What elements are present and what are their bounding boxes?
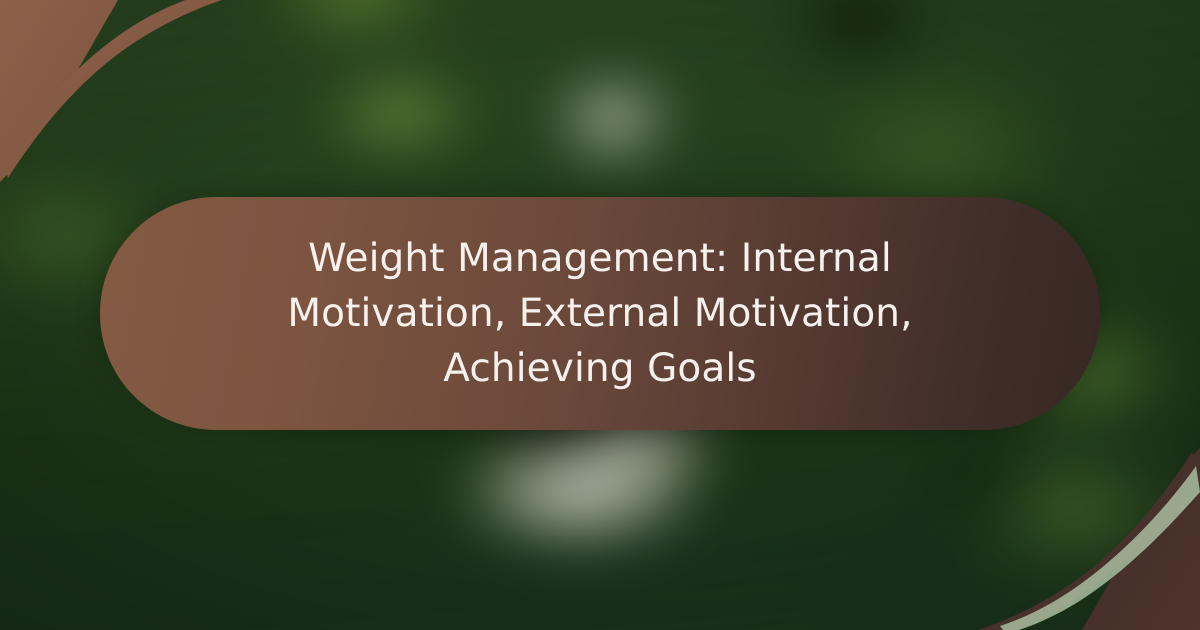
title-card: Weight Management: Internal Motivation, …: [100, 197, 1100, 430]
page-title: Weight Management: Internal Motivation, …: [220, 231, 980, 396]
share-card-canvas: Weight Management: Internal Motivation, …: [0, 0, 1200, 630]
